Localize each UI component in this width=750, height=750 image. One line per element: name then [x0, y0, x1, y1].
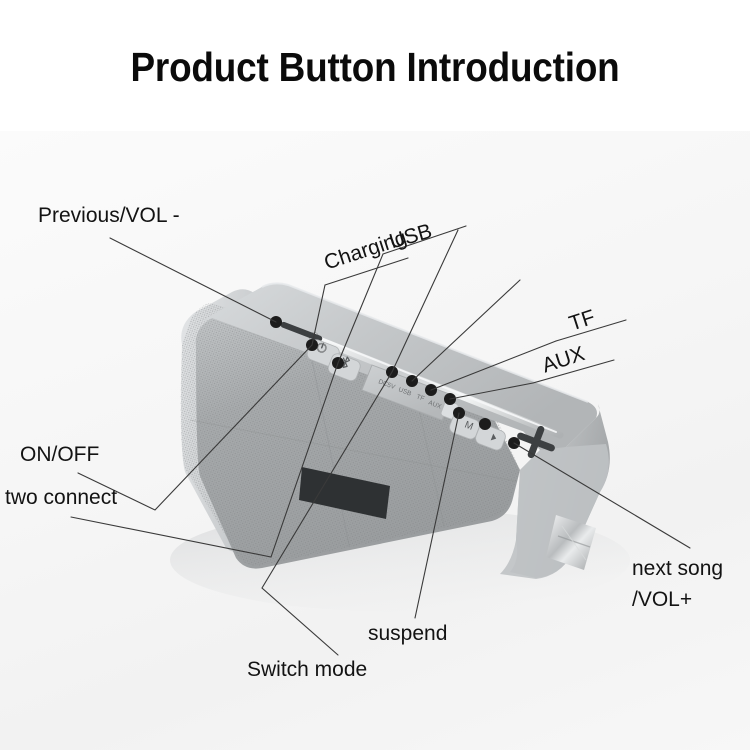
callout-vol-up: /VOL+ — [632, 588, 692, 612]
callout-previous-vol-down: Previous/VOL - — [38, 204, 180, 228]
callout-on-off: ON/OFF — [20, 443, 99, 467]
callout-switch-mode: Switch mode — [247, 658, 367, 682]
callout-suspend: suspend — [368, 622, 447, 646]
leader-previous — [110, 238, 276, 322]
infographic-canvas: Product Button Introduction — [0, 0, 750, 750]
callout-next-song: next song — [632, 557, 723, 581]
callout-two-connect: two connect — [5, 486, 117, 510]
